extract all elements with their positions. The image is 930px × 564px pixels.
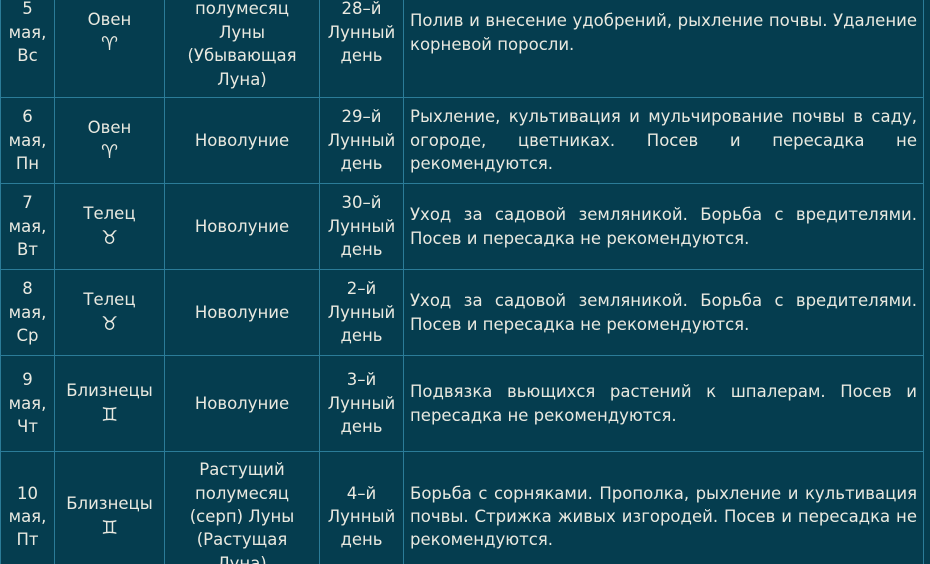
moon-phase-line-1: Новолуние (171, 129, 313, 152)
zodiac-name: Близнецы (66, 494, 153, 513)
date-month: мая, (7, 129, 48, 152)
lunar-day-number: 4–й (326, 482, 397, 505)
cell-zodiac-sign: Телец ♉ (55, 270, 165, 356)
moon-phase-line-1: Растущий (171, 458, 313, 481)
table-row: 10 мая, Пт Близнецы ♊ Растущий полумесяц… (1, 452, 924, 564)
table-row: 9 мая, Чт Близнецы ♊ Новолуние 3–й Лунны… (1, 356, 924, 452)
date-weekday: Чт (7, 415, 48, 438)
moon-phase-line-1: Новолуние (171, 392, 313, 415)
lunar-day-label-2: день (326, 528, 397, 551)
cell-zodiac-sign: Близнецы ♊ (55, 356, 165, 452)
lunar-calendar-table: 5 мая, Вс Овен ♈ Убывающий полумесяц Лун… (0, 0, 924, 564)
lunar-day-label-1: Лунный (326, 505, 397, 528)
cell-lunar-day: 3–й Лунный день (320, 356, 404, 452)
moon-phase-line-4: (Растущая Луна) (171, 528, 313, 564)
table-row: 6 мая, Пн Овен ♈ Новолуние 29–й Лунный д… (1, 98, 924, 184)
lunar-calendar-page: 5 мая, Вс Овен ♈ Убывающий полумесяц Лун… (0, 0, 930, 564)
cell-date: 10 мая, Пт (1, 452, 55, 564)
zodiac-name: Овен (88, 10, 132, 29)
cell-recommended-works: Полив и внесение удобрений, рыхление поч… (404, 0, 924, 98)
date-day: 8 (7, 277, 48, 300)
table-row: 5 мая, Вс Овен ♈ Убывающий полумесяц Лун… (1, 0, 924, 98)
cell-date: 6 мая, Пн (1, 98, 55, 184)
date-day: 5 (7, 0, 48, 21)
date-weekday: Пт (7, 528, 48, 551)
lunar-day-label-1: Лунный (326, 392, 397, 415)
cell-moon-phase: Растущий полумесяц (серп) Луны (Растущая… (165, 452, 320, 564)
lunar-day-number: 30–й (326, 191, 397, 214)
date-month: мая, (7, 215, 48, 238)
date-day: 6 (7, 105, 48, 128)
lunar-day-label-1: Лунный (326, 301, 397, 324)
cell-date: 5 мая, Вс (1, 0, 55, 98)
date-weekday: Ср (7, 324, 48, 347)
lunar-day-label-2: день (326, 44, 397, 67)
date-month: мая, (7, 301, 48, 324)
lunar-day-number: 28–й (326, 0, 397, 21)
table-row: 8 мая, Ср Телец ♉ Новолуние 2–й Лунный д… (1, 270, 924, 356)
cell-moon-phase: Убывающий полумесяц Луны (Убывающая Луна… (165, 0, 320, 98)
lunar-calendar-body: 5 мая, Вс Овен ♈ Убывающий полумесяц Лун… (1, 0, 924, 564)
cell-zodiac-sign: Овен ♈ (55, 0, 165, 98)
zodiac-name: Телец (83, 290, 135, 309)
date-month: мая, (7, 392, 48, 415)
lunar-day-number: 2–й (326, 277, 397, 300)
cell-zodiac-sign: Телец ♉ (55, 184, 165, 270)
zodiac-name: Овен (88, 118, 132, 137)
lunar-day-label-2: день (326, 238, 397, 261)
cell-recommended-works: Уход за садовой земляникой. Борьба с вре… (404, 270, 924, 356)
cell-recommended-works: Борьба с сорняками. Прополка, рыхление и… (404, 452, 924, 564)
date-month: мая, (7, 21, 48, 44)
cell-moon-phase: Новолуние (165, 270, 320, 356)
aries-icon: ♈ (61, 32, 158, 58)
zodiac-name: Телец (83, 204, 135, 223)
lunar-day-label-2: день (326, 324, 397, 347)
moon-phase-line-1: Новолуние (171, 301, 313, 324)
moon-phase-line-2: полумесяц (171, 482, 313, 505)
cell-moon-phase: Новолуние (165, 98, 320, 184)
moon-phase-line-2: полумесяц Луны (171, 0, 313, 44)
lunar-day-number: 29–й (326, 105, 397, 128)
taurus-icon: ♉ (61, 226, 158, 252)
cell-moon-phase: Новолуние (165, 184, 320, 270)
date-day: 7 (7, 191, 48, 214)
moon-phase-line-3: (серп) Луны (171, 505, 313, 528)
date-weekday: Вт (7, 238, 48, 261)
cell-lunar-day: 4–й Лунный день (320, 452, 404, 564)
zodiac-name: Близнецы (66, 381, 153, 400)
moon-phase-line-1: Новолуние (171, 215, 313, 238)
lunar-day-label-1: Лунный (326, 215, 397, 238)
taurus-icon: ♉ (61, 312, 158, 338)
lunar-day-label-2: день (326, 415, 397, 438)
date-weekday: Пн (7, 152, 48, 175)
lunar-day-label-1: Лунный (326, 21, 397, 44)
date-day: 9 (7, 368, 48, 391)
cell-date: 7 мая, Вт (1, 184, 55, 270)
table-row: 7 мая, Вт Телец ♉ Новолуние 30–й Лунный … (1, 184, 924, 270)
cell-date: 9 мая, Чт (1, 356, 55, 452)
cell-recommended-works: Подвязка вьющихся растений к шпалерам. П… (404, 356, 924, 452)
cell-lunar-day: 2–й Лунный день (320, 270, 404, 356)
cell-date: 8 мая, Ср (1, 270, 55, 356)
cell-recommended-works: Рыхление, культивация и мульчирование по… (404, 98, 924, 184)
cell-zodiac-sign: Овен ♈ (55, 98, 165, 184)
lunar-day-label-2: день (326, 152, 397, 175)
date-weekday: Вс (7, 44, 48, 67)
date-day: 10 (7, 482, 48, 505)
moon-phase-line-4: Луна) (171, 68, 313, 91)
lunar-day-number: 3–й (326, 368, 397, 391)
cell-lunar-day: 30–й Лунный день (320, 184, 404, 270)
cell-recommended-works: Уход за садовой земляникой. Борьба с вре… (404, 184, 924, 270)
moon-phase-line-3: (Убывающая (171, 44, 313, 67)
gemini-icon: ♊ (61, 403, 158, 429)
date-month: мая, (7, 505, 48, 528)
cell-lunar-day: 29–й Лунный день (320, 98, 404, 184)
cell-lunar-day: 28–й Лунный день (320, 0, 404, 98)
lunar-day-label-1: Лунный (326, 129, 397, 152)
gemini-icon: ♊ (61, 516, 158, 542)
cell-zodiac-sign: Близнецы ♊ (55, 452, 165, 564)
aries-icon: ♈ (61, 140, 158, 166)
cell-moon-phase: Новолуние (165, 356, 320, 452)
